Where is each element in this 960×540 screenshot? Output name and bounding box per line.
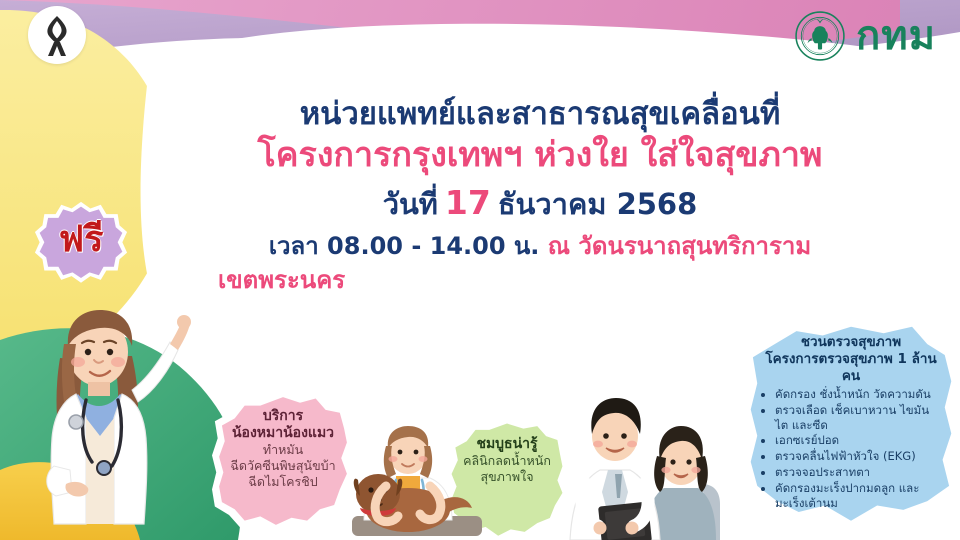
booth-bubble-title: ชมบูธน่ารู้ (444, 436, 570, 453)
poster-project-name: โครงการกรุงเทพฯ ห่วงใย ใส่ใจสุขภาพ (200, 135, 880, 176)
screening-item: ตรวจคลื่นไฟฟ้าหัวใจ (EKG) (775, 449, 944, 464)
booth-bubble-item-2: สุขภาพใจ (444, 469, 570, 485)
date-prefix: วันที่ (383, 187, 438, 221)
health-screening-panel: ชวนตรวจสุขภาพ โครงการตรวจสุขภาพ 1 ล้านคน… (742, 318, 960, 518)
poster-title: หน่วยแพทย์และสาธารณสุขเคลื่อนที่ (200, 96, 880, 133)
female-doctor-pointing-illustration (20, 298, 210, 540)
event-time: เวลา 08.00 - 14.00 น. (269, 232, 540, 260)
date-day: 17 (445, 183, 491, 222)
free-badge: ฟรี (34, 200, 128, 280)
poster-canvas: กทม ฟรี หน่วยแพทย์และสาธารณสุขเคลื่อนที่… (0, 0, 960, 540)
date-month: ธันวาคม (498, 187, 607, 221)
screening-panel-content: ชวนตรวจสุขภาพ โครงการตรวจสุขภาพ 1 ล้านคน… (742, 318, 960, 511)
event-time-venue-line: เวลา 08.00 - 14.00 น. ณ วัดนรนาถสุนทริกา… (200, 231, 880, 263)
mourning-ribbon-badge (28, 6, 86, 64)
event-district: เขตพระนคร (200, 265, 880, 296)
booth-bubble-item-1: คลินิกลดน้ำหนัก (444, 453, 570, 469)
pet-bubble-title-2: น้องหมาน้องแมว (212, 425, 354, 442)
screening-item: ตรวจเลือด เช็คเบาหวาน ไขมัน ไต และซีด (775, 403, 944, 433)
bma-logo: กทม (794, 10, 936, 62)
screening-item: คัดกรอง ชั่งน้ำหนัก วัดความดัน (775, 387, 944, 402)
screening-subtitle: โครงการตรวจสุขภาพ 1 ล้านคน (758, 351, 944, 385)
screening-item: คัดกรองมะเร็งปากมดลูก และมะเร็งเต้านม (775, 481, 944, 511)
event-venue: ณ วัดนรนาถสุนทริการาม (548, 232, 811, 260)
bma-wordmark: กทม (856, 16, 936, 56)
screening-title: ชวนตรวจสุขภาพ (758, 334, 944, 351)
pet-bubble-title-1: บริการ (212, 408, 354, 425)
pet-bubble-content: บริการ น้องหมาน้องแมว ทำหมัน ฉีดวัคซีนพิ… (212, 390, 354, 489)
pet-bubble-item-1: ทำหมัน (212, 442, 354, 458)
screening-item: เอกซเรย์ปอด (775, 433, 944, 448)
bma-seal-icon (794, 10, 846, 62)
screening-item: ตรวจจอประสาทตา (775, 465, 944, 480)
pet-bubble-item-2: ฉีดวัคซีนพิษสุนัขบ้า (212, 458, 354, 474)
pet-bubble-item-3: ฉีดไมโครชิป (212, 474, 354, 490)
headline-block: หน่วยแพทย์และสาธารณสุขเคลื่อนที่ โครงการ… (200, 96, 880, 296)
free-badge-label: ฟรี (34, 200, 128, 280)
doctor-and-patient-illustration (556, 392, 756, 540)
date-year: 2568 (617, 187, 698, 221)
booth-bubble-content: ชมบูธน่ารู้ คลินิกลดน้ำหนัก สุขภาพใจ (444, 416, 570, 485)
screening-item-list: คัดกรอง ชั่งน้ำหนัก วัดความดัน ตรวจเลือด… (758, 387, 944, 512)
mourning-ribbon-icon (39, 12, 75, 58)
event-date-line: วันที่17ธันวาคม 2568 (200, 182, 880, 225)
